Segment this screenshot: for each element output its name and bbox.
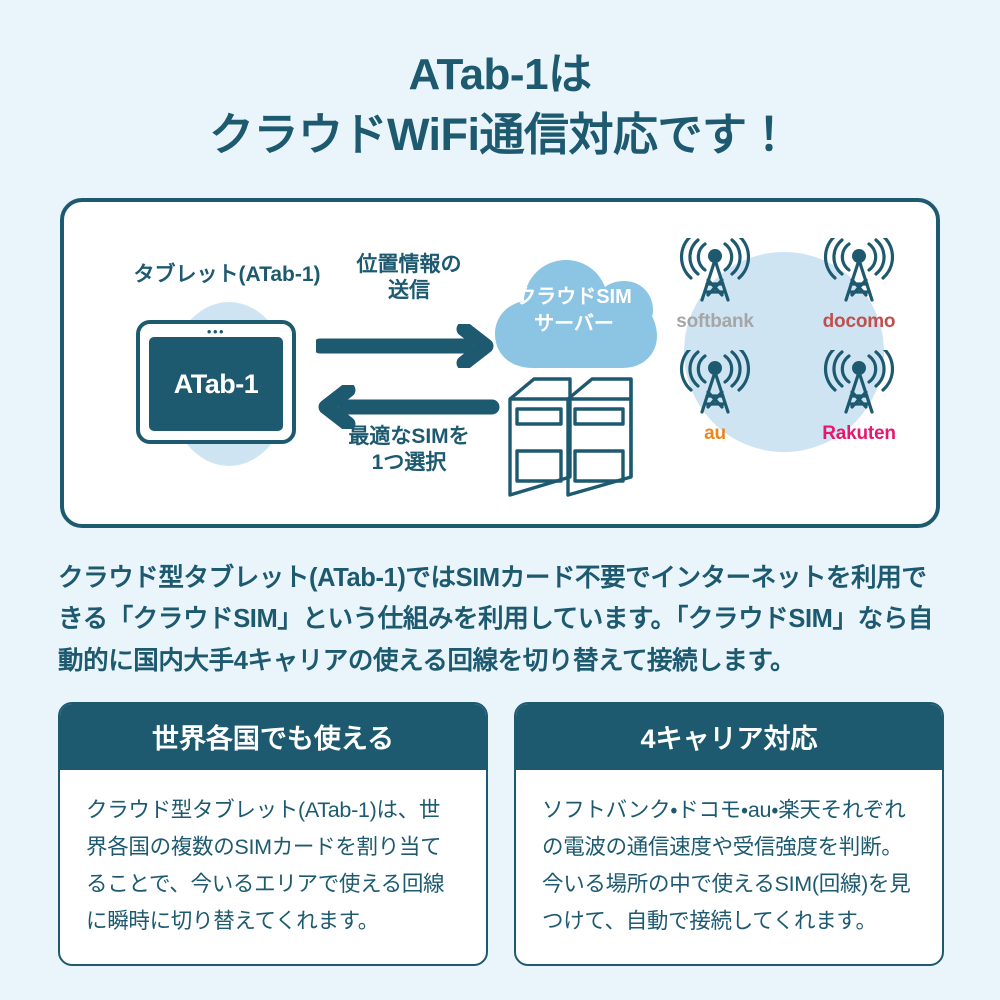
feature-card-carriers: 4キャリア対応 ソフトバンク・ドコモ・au・楽天それぞれの電波の通信速度や受信強… <box>514 702 944 966</box>
carrier-label-softbank: softbank <box>660 311 770 333</box>
feature-card-list: 世界各国でも使える クラウド型タブレット(ATab-1)は、世界各国の複数のSI… <box>58 702 944 966</box>
forward-arrow-label: 位置情報の 送信 <box>309 252 509 305</box>
feature-card-body: クラウド型タブレット(ATab-1)は、世界各国の複数のSIMカードを割り当てる… <box>60 770 486 964</box>
antenna-tower-icon <box>678 350 752 416</box>
feature-card-global: 世界各国でも使える クラウド型タブレット(ATab-1)は、世界各国の複数のSI… <box>58 702 488 966</box>
cloud-label: クラウドSIM サーバー <box>489 284 659 338</box>
arrow-left-icon <box>316 385 500 434</box>
carrier-rakuten: Rakuten <box>804 350 914 445</box>
tablet-screen-label: ATab-1 <box>174 369 259 400</box>
antenna-tower-icon <box>822 238 896 304</box>
feature-card-heading: 世界各国でも使える <box>60 704 486 770</box>
arrow-right-icon <box>316 324 500 373</box>
page-title-line-2: クラウドWiFi通信対応です！ <box>0 105 1000 165</box>
cloud-sim-diagram-panel: タブレット(ATab-1) ••• ATab-1 位置情報の 送信 最適なSIM… <box>60 198 940 528</box>
tablet-camera-dots: ••• <box>140 328 292 335</box>
carrier-label-rakuten: Rakuten <box>804 423 914 445</box>
antenna-tower-icon <box>678 238 752 304</box>
carrier-docomo: docomo <box>804 238 914 333</box>
server-rack-icon <box>504 367 639 507</box>
feature-card-body: ソフトバンク・ドコモ・au・楽天それぞれの電波の通信速度や受信強度を判断。今いる… <box>516 770 942 964</box>
carrier-au: au <box>660 350 770 445</box>
page-title-line-1: ATab-1は <box>0 46 1000 105</box>
body-paragraph: クラウド型タブレット(ATab-1)ではSIMカード不要でインターネットを利用で… <box>58 558 948 682</box>
carrier-label-docomo: docomo <box>804 311 914 333</box>
feature-card-heading: 4キャリア対応 <box>516 704 942 770</box>
carrier-label-au: au <box>660 423 770 445</box>
tablet-screen: ATab-1 <box>149 337 283 431</box>
page-title: ATab-1は クラウドWiFi通信対応です！ <box>0 46 1000 164</box>
antenna-tower-icon <box>822 350 896 416</box>
carrier-softbank: softbank <box>660 238 770 333</box>
tablet-icon: ••• ATab-1 <box>136 320 296 444</box>
